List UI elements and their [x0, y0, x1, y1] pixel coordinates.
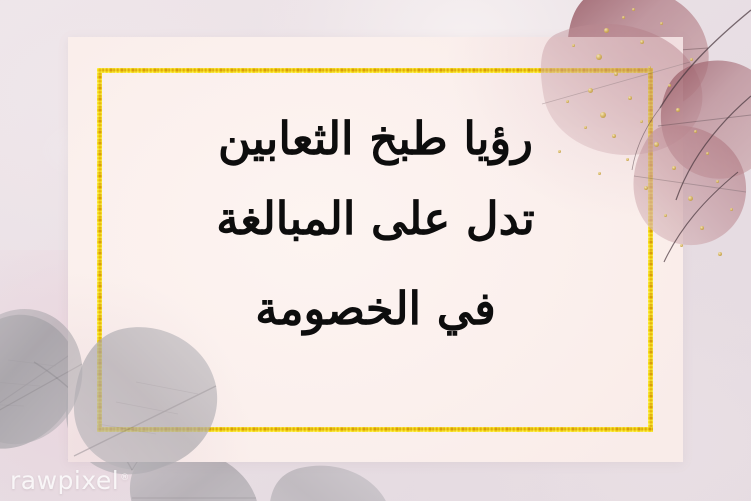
quote-card: رؤيا طبخ الثعابين تدل على المبالغة في ال…	[68, 37, 683, 462]
gold-frame-right-edge	[648, 68, 653, 432]
gold-frame-bottom-edge	[97, 427, 653, 432]
watermark-registered-mark: ®	[120, 473, 130, 483]
poster-canvas: رؤيا طبخ الثعابين تدل على المبالغة في ال…	[0, 0, 751, 501]
quote-text-block: رؤيا طبخ الثعابين تدل على المبالغة في ال…	[106, 99, 645, 349]
watermark-text: rawpixel	[10, 466, 119, 495]
quote-line-2: تدل على المبالغة	[106, 179, 645, 259]
rawpixel-watermark: rawpixel®	[10, 466, 130, 495]
quote-line-1: رؤيا طبخ الثعابين	[106, 99, 645, 179]
gold-frame-left-edge	[97, 68, 102, 432]
gold-frame-top-edge	[97, 68, 653, 73]
quote-line-3: في الخصومة	[106, 269, 645, 349]
